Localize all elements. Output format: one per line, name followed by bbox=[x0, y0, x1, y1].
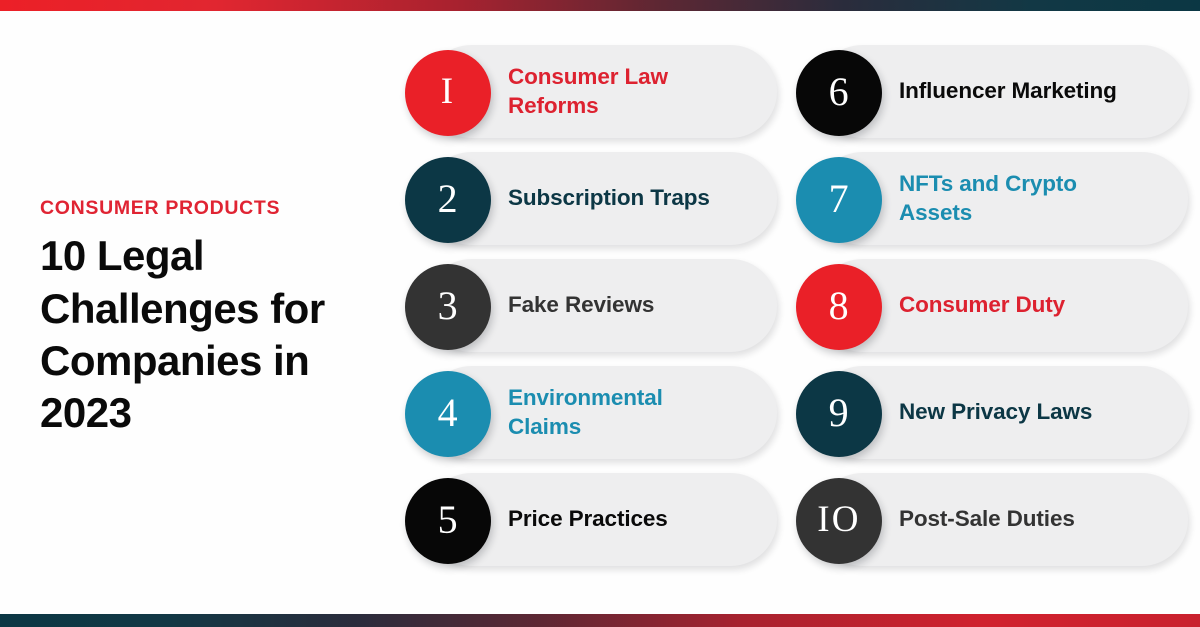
challenge-card[interactable]: 8Consumer Duty bbox=[796, 259, 1168, 352]
card-label: Influencer Marketing bbox=[899, 77, 1117, 105]
challenge-card[interactable]: 7NFTs and Crypto Assets bbox=[796, 152, 1168, 245]
card-label: Subscription Traps bbox=[508, 184, 710, 212]
card-label: Fake Reviews bbox=[508, 291, 654, 319]
challenge-card[interactable]: IConsumer Law Reforms bbox=[405, 45, 777, 138]
card-number-badge: I bbox=[405, 50, 491, 136]
bottom-gradient-rule bbox=[0, 614, 1200, 627]
card-number-badge: 8 bbox=[796, 264, 882, 350]
card-number: 4 bbox=[438, 393, 459, 436]
challenge-card[interactable]: 6Influencer Marketing bbox=[796, 45, 1168, 138]
card-label: Post-Sale Duties bbox=[899, 505, 1075, 533]
challenge-card[interactable]: 5Price Practices bbox=[405, 473, 777, 566]
card-number: 7 bbox=[829, 179, 850, 222]
card-number-badge: 4 bbox=[405, 371, 491, 457]
card-number-badge: 3 bbox=[405, 264, 491, 350]
card-column-1: IConsumer Law Reforms2Subscription Traps… bbox=[405, 45, 777, 566]
card-number: 5 bbox=[438, 500, 459, 543]
challenge-card[interactable]: 2Subscription Traps bbox=[405, 152, 777, 245]
card-label: Consumer Duty bbox=[899, 291, 1065, 319]
card-number: 2 bbox=[438, 179, 459, 222]
card-number-badge: 7 bbox=[796, 157, 882, 243]
card-label: Consumer Law Reforms bbox=[508, 63, 738, 119]
card-number-badge: 9 bbox=[796, 371, 882, 457]
card-number: IO bbox=[817, 501, 860, 541]
card-number: 6 bbox=[829, 72, 850, 115]
challenge-card[interactable]: 4Environmental Claims bbox=[405, 366, 777, 459]
challenge-card[interactable]: 9New Privacy Laws bbox=[796, 366, 1168, 459]
card-column-2: 6Influencer Marketing7NFTs and Crypto As… bbox=[796, 45, 1168, 566]
card-label: Environmental Claims bbox=[508, 384, 738, 440]
card-number: 8 bbox=[829, 286, 850, 329]
card-number-badge: 6 bbox=[796, 50, 882, 136]
page-title: 10 Legal Challenges for Companies in 202… bbox=[40, 230, 400, 438]
eyebrow-label: CONSUMER PRODUCTS bbox=[40, 198, 400, 219]
card-label: Price Practices bbox=[508, 505, 668, 533]
card-number-badge: 2 bbox=[405, 157, 491, 243]
card-label: NFTs and Crypto Assets bbox=[899, 170, 1154, 226]
challenge-card-grid: IConsumer Law Reforms2Subscription Traps… bbox=[405, 45, 1170, 582]
card-number: 3 bbox=[438, 286, 459, 329]
card-number: I bbox=[441, 73, 456, 113]
card-number: 9 bbox=[829, 393, 850, 436]
challenge-card[interactable]: 3Fake Reviews bbox=[405, 259, 777, 352]
top-gradient-rule bbox=[0, 0, 1200, 11]
infographic-poster: CONSUMER PRODUCTS 10 Legal Challenges fo… bbox=[0, 0, 1200, 627]
challenge-card[interactable]: IOPost-Sale Duties bbox=[796, 473, 1168, 566]
card-label: New Privacy Laws bbox=[899, 398, 1092, 426]
title-block: CONSUMER PRODUCTS 10 Legal Challenges fo… bbox=[40, 198, 400, 439]
card-number-badge: IO bbox=[796, 478, 882, 564]
card-number-badge: 5 bbox=[405, 478, 491, 564]
